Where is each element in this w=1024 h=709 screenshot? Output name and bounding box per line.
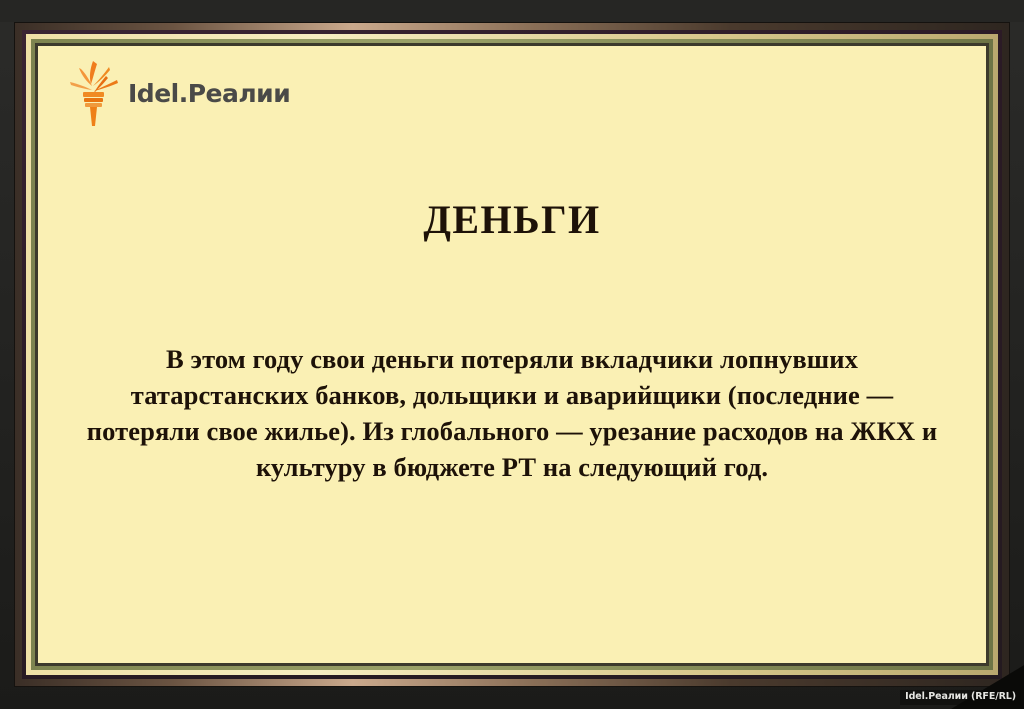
photo-credit: Idel.Реалии (RFE/RL) [900, 690, 1021, 705]
poster-body-text: В этом году свои деньги потеряли вкладчи… [76, 341, 948, 485]
poster-canvas: Idel.Реалии ДЕНЬГИ В этом году свои день… [38, 46, 986, 663]
screenshot-root: Idel.Реалии ДЕНЬГИ В этом году свои день… [0, 0, 1024, 709]
picture-frame-top-band [0, 0, 1024, 22]
flame-torch-icon [66, 60, 120, 126]
brand-wordmark: Idel.Реалии [128, 81, 290, 106]
poster-headline: ДЕНЬГИ [38, 196, 986, 243]
brand-logo[interactable]: Idel.Реалии [66, 60, 290, 126]
